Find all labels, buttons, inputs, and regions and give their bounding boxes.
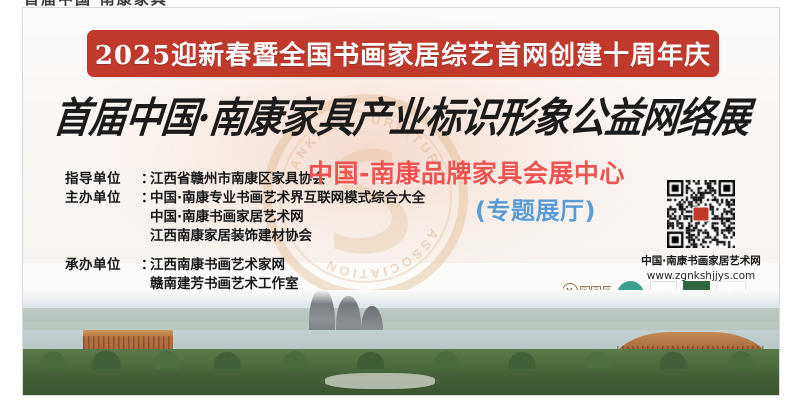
organizer-colon: ： — [141, 256, 150, 275]
organizer-label: 主办单位 — [65, 189, 141, 208]
calligraphy-title: 首届中国·南康家具产业标识形象公益网络展 — [31, 88, 773, 140]
organizer-colon: ： — [141, 170, 150, 189]
organizer-value: 江西南康家居装饰建材协会 — [150, 227, 312, 246]
venue-subtitle: (专题展厅) — [475, 191, 596, 226]
photo-treeline — [23, 343, 779, 369]
organizer-colon: ： — [141, 189, 150, 208]
qr-center-stamp — [693, 207, 710, 222]
organizer-row: 主办单位：中国·南康书画家居艺术网 — [65, 208, 485, 227]
photo-top-fade — [23, 290, 779, 304]
organizer-row: 主办单位：中国·南康专业书画艺术界互联网模式综合大全 — [65, 189, 485, 208]
qr-block: 中国·南康书画家居艺术网 www.zgnkshjjys.com — [631, 180, 771, 282]
organizer-value: 中国·南康专业书画艺术界互联网模式综合大全 — [150, 189, 425, 208]
cut-off-header-text: 首届中国·南康家具 — [0, 0, 800, 7]
poster-frame: NANKANG FURNITURE ASSOCIATION 2025迎新春暨全国… — [22, 7, 780, 396]
organizer-gap — [65, 246, 485, 256]
venue-title: 中国-南康品牌家具会展中心 — [308, 154, 625, 190]
qr-code-icon[interactable] — [667, 180, 735, 248]
cut-off-header-label: 首届中国·南康家具 — [24, 0, 168, 7]
headline-banner-text: 2025迎新春暨全国书画家居综艺首网创建十周年庆 — [95, 35, 711, 72]
venue-photograph — [23, 290, 779, 395]
organizer-label: 承办单位 — [65, 256, 141, 275]
photo-plaza — [325, 373, 435, 389]
calligraphy-title-text: 首届中国·南康家具产业标识形象公益网络展 — [51, 84, 753, 144]
organizer-row: 承办单位：江西南康书画艺术家网 — [65, 256, 485, 275]
organizer-value: 中国·南康书画家居艺术网 — [150, 208, 304, 227]
qr-caption: 中国·南康书画家居艺术网 — [631, 253, 771, 268]
organizer-value: 江西省赣州市南康区家具协会 — [150, 170, 326, 189]
organizer-label: 指导单位 — [65, 170, 141, 189]
headline-banner: 2025迎新春暨全国书画家居综艺首网创建十周年庆 — [87, 30, 719, 77]
organizer-row: 主办单位：江西南康家居装饰建材协会 — [65, 227, 485, 246]
organizer-value: 江西南康书画艺术家网 — [150, 256, 285, 275]
